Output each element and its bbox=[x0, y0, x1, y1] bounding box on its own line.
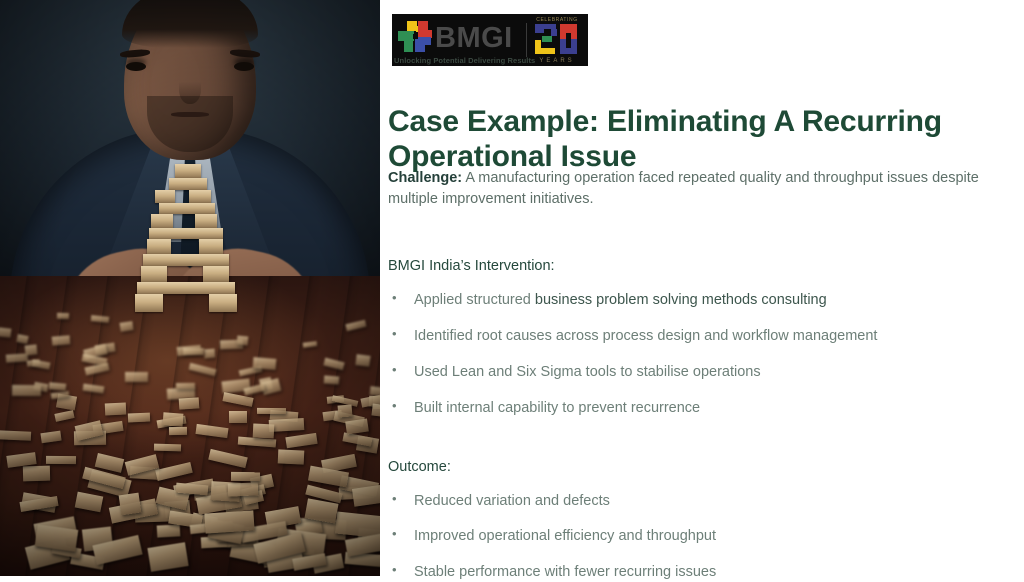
wooden-block bbox=[196, 424, 229, 438]
list-item: Identified root causes across process de… bbox=[388, 327, 1010, 346]
wooden-block bbox=[189, 363, 217, 376]
bmgi-logo: BMGI Unlocking Potential Delivering Resu… bbox=[392, 14, 588, 66]
wooden-block bbox=[231, 472, 260, 481]
bmgi-cross-icon bbox=[398, 21, 432, 54]
wooden-block bbox=[105, 403, 127, 416]
page-title: Case Example: Eliminating A Recurring Op… bbox=[388, 104, 988, 175]
wooden-block bbox=[236, 335, 248, 345]
logo-tagline: Unlocking Potential Delivering Results bbox=[394, 56, 526, 65]
eye-left bbox=[126, 62, 146, 71]
wooden-block bbox=[46, 456, 76, 464]
wooden-block bbox=[83, 384, 104, 393]
list-item-text: Reduced variation and defects bbox=[414, 493, 610, 509]
wooden-block bbox=[372, 404, 380, 419]
wooden-block bbox=[199, 239, 223, 254]
eye-right bbox=[234, 62, 254, 71]
wooden-block bbox=[203, 348, 214, 357]
wooden-block bbox=[345, 418, 369, 434]
wooden-block bbox=[0, 327, 12, 338]
wooden-block bbox=[90, 315, 108, 322]
wooden-block bbox=[128, 412, 151, 422]
wooden-block bbox=[148, 542, 190, 571]
wooden-block bbox=[52, 336, 70, 347]
wooden-block bbox=[175, 164, 201, 178]
logo-primary: BMGI Unlocking Potential Delivering Resu… bbox=[392, 14, 526, 66]
wooden-block bbox=[49, 382, 67, 390]
list-item-text: Built internal capability to prevent rec… bbox=[414, 400, 700, 416]
wooden-block bbox=[169, 427, 187, 435]
wooden-block bbox=[183, 348, 204, 355]
wooden-block bbox=[156, 524, 179, 537]
case-photo bbox=[0, 0, 380, 576]
intervention-bullets: Applied structured business problem solv… bbox=[388, 291, 1010, 417]
years-label: YEARS bbox=[527, 58, 587, 64]
wooden-block bbox=[257, 408, 286, 414]
list-item: Applied structured business problem solv… bbox=[388, 291, 1010, 310]
wooden-block bbox=[252, 357, 276, 370]
outcome-bullets: Reduced variation and defectsImproved op… bbox=[388, 492, 1010, 582]
wooden-block bbox=[16, 334, 28, 344]
body-content: Challenge: A manufacturing operation fac… bbox=[388, 168, 1010, 582]
wooden-block bbox=[12, 385, 41, 396]
mouth bbox=[171, 112, 209, 117]
wooden-block bbox=[119, 493, 141, 516]
wooden-block bbox=[252, 424, 274, 439]
list-item-text: Used Lean and Six Sigma tools to stabili… bbox=[414, 364, 761, 380]
wooden-block bbox=[40, 431, 61, 443]
list-item: Built internal capability to prevent rec… bbox=[388, 399, 1010, 418]
wooden-block bbox=[155, 462, 192, 481]
wooden-block bbox=[125, 372, 148, 382]
list-item-text: Applied structured bbox=[414, 292, 535, 308]
wooden-block bbox=[57, 312, 70, 318]
hair bbox=[122, 0, 258, 48]
challenge-text: A manufacturing operation faced repeated… bbox=[388, 170, 979, 207]
list-item: Reduced variation and defects bbox=[388, 492, 1010, 511]
wooden-block bbox=[163, 412, 184, 427]
list-item: Used Lean and Six Sigma tools to stabili… bbox=[388, 363, 1010, 382]
wooden-block bbox=[189, 190, 211, 203]
wooden-block bbox=[324, 375, 339, 384]
wooden-block bbox=[32, 359, 51, 369]
list-item-text: Stable performance with fewer recurring … bbox=[414, 564, 716, 580]
wooden-block bbox=[169, 178, 207, 190]
wooden-block bbox=[23, 466, 50, 482]
wooden-block bbox=[195, 214, 217, 228]
wooden-block bbox=[178, 398, 198, 411]
challenge-label: Challenge: bbox=[388, 170, 462, 186]
wooden-block bbox=[345, 319, 366, 331]
wooden-block bbox=[149, 228, 223, 239]
list-item-emphasis: business problem solving methods consult… bbox=[535, 292, 827, 308]
anniversary-badge: CELEBRATING YEARS bbox=[527, 14, 587, 66]
list-item: Stable performance with fewer recurring … bbox=[388, 563, 1010, 582]
wooden-block bbox=[151, 214, 173, 228]
outcome-heading: Outcome: bbox=[388, 459, 1010, 475]
slide-root: BMGI Unlocking Potential Delivering Resu… bbox=[0, 0, 1024, 576]
list-item-text: Identified root causes across process de… bbox=[414, 328, 877, 344]
wooden-block bbox=[337, 404, 352, 417]
content-panel: BMGI Unlocking Potential Delivering Resu… bbox=[380, 0, 1024, 576]
wooden-block bbox=[208, 448, 247, 467]
wooden-block bbox=[303, 341, 318, 348]
wooden-block bbox=[159, 203, 215, 214]
wooden-block bbox=[75, 492, 104, 512]
intervention-heading: BMGI India’s Intervention: bbox=[388, 258, 1010, 274]
celebrating-label: CELEBRATING bbox=[527, 17, 587, 23]
wooden-block bbox=[147, 239, 171, 254]
wooden-block bbox=[143, 254, 229, 266]
wooden-block bbox=[205, 510, 255, 533]
wooden-block bbox=[5, 353, 27, 362]
scattered-blocks bbox=[0, 276, 380, 576]
logo-wordmark: BMGI bbox=[435, 24, 513, 53]
wooden-block bbox=[227, 482, 257, 497]
challenge-paragraph: Challenge: A manufacturing operation fac… bbox=[388, 168, 1010, 209]
wooden-block bbox=[119, 321, 133, 331]
list-item-text: Improved operational efficiency and thro… bbox=[414, 528, 716, 544]
wooden-block bbox=[323, 358, 345, 371]
wooden-block bbox=[155, 190, 175, 203]
wooden-block bbox=[54, 410, 74, 422]
thirty-blocks-icon bbox=[535, 24, 581, 56]
wooden-block bbox=[176, 383, 195, 389]
wooden-block bbox=[277, 450, 303, 465]
wooden-block bbox=[229, 411, 247, 423]
wooden-block bbox=[85, 362, 110, 375]
wooden-block bbox=[238, 437, 277, 448]
wooden-block bbox=[285, 432, 318, 448]
list-item: Improved operational efficiency and thro… bbox=[388, 527, 1010, 546]
wooden-block bbox=[355, 354, 371, 366]
wooden-block bbox=[0, 430, 31, 440]
wooden-block bbox=[154, 443, 181, 451]
wooden-block bbox=[24, 344, 37, 355]
